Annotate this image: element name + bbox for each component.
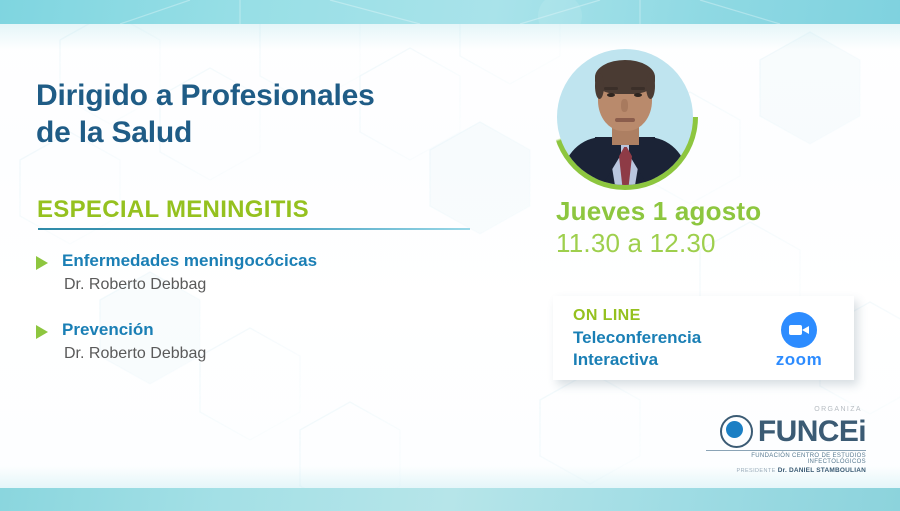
funcei-circle-icon bbox=[720, 415, 753, 448]
topic-title: Enfermedades meningocócicas bbox=[62, 251, 476, 271]
list-item: Enfermedades meningocócicas Dr. Roberto … bbox=[36, 251, 476, 296]
page-title: Dirigido a Profesionales de la Salud bbox=[36, 78, 375, 151]
zoom-camera-icon bbox=[781, 312, 817, 348]
section-divider bbox=[38, 228, 470, 230]
event-time: 11.30 a 12.30 bbox=[556, 228, 716, 259]
organizer-logo: ORGANIZA FUNCEi FUNDACIÓN CENTRO DE ESTU… bbox=[706, 406, 866, 474]
top-band-shine bbox=[0, 0, 900, 24]
section-subtitle: ESPECIAL MENINGITIS bbox=[37, 196, 309, 224]
zoom-logo[interactable]: zoom bbox=[761, 312, 837, 370]
event-date: Jueves 1 agosto bbox=[556, 196, 761, 227]
online-description: Teleconferencia Interactiva bbox=[573, 327, 701, 371]
online-info-card: ON LINE Teleconferencia Interactiva zoom bbox=[553, 296, 854, 380]
speaker-avatar bbox=[552, 44, 698, 190]
list-item: Prevención Dr. Roberto Debbag bbox=[36, 320, 476, 365]
topic-title: Prevención bbox=[62, 320, 476, 340]
online-label: ON LINE bbox=[573, 307, 641, 325]
bottom-accent-band bbox=[0, 488, 900, 511]
webinar-poster: Dirigido a Profesionales de la Salud ESP… bbox=[0, 0, 900, 511]
avatar-photo bbox=[557, 49, 693, 185]
topic-list: Enfermedades meningocócicas Dr. Roberto … bbox=[36, 251, 476, 365]
organizer-tagline: FUNDACIÓN CENTRO DE ESTUDIOS INFECTOLÓGI… bbox=[706, 450, 866, 465]
president-kicker: PRESIDENTE bbox=[737, 468, 776, 474]
president-name: Dr. DANIEL STAMBOULIAN bbox=[778, 467, 866, 474]
topic-speaker: Dr. Roberto Debbag bbox=[62, 274, 476, 296]
triangle-bullet-icon bbox=[36, 325, 48, 339]
funcei-wordmark: FUNCEi bbox=[758, 417, 866, 447]
triangle-bullet-icon bbox=[36, 256, 48, 270]
top-band-fade bbox=[0, 24, 900, 50]
topic-speaker: Dr. Roberto Debbag bbox=[62, 343, 476, 365]
zoom-wordmark: zoom bbox=[761, 350, 837, 370]
organizer-president: PRESIDENTE Dr. DANIEL STAMBOULIAN bbox=[706, 467, 866, 474]
organizer-kicker: ORGANIZA bbox=[706, 406, 862, 413]
